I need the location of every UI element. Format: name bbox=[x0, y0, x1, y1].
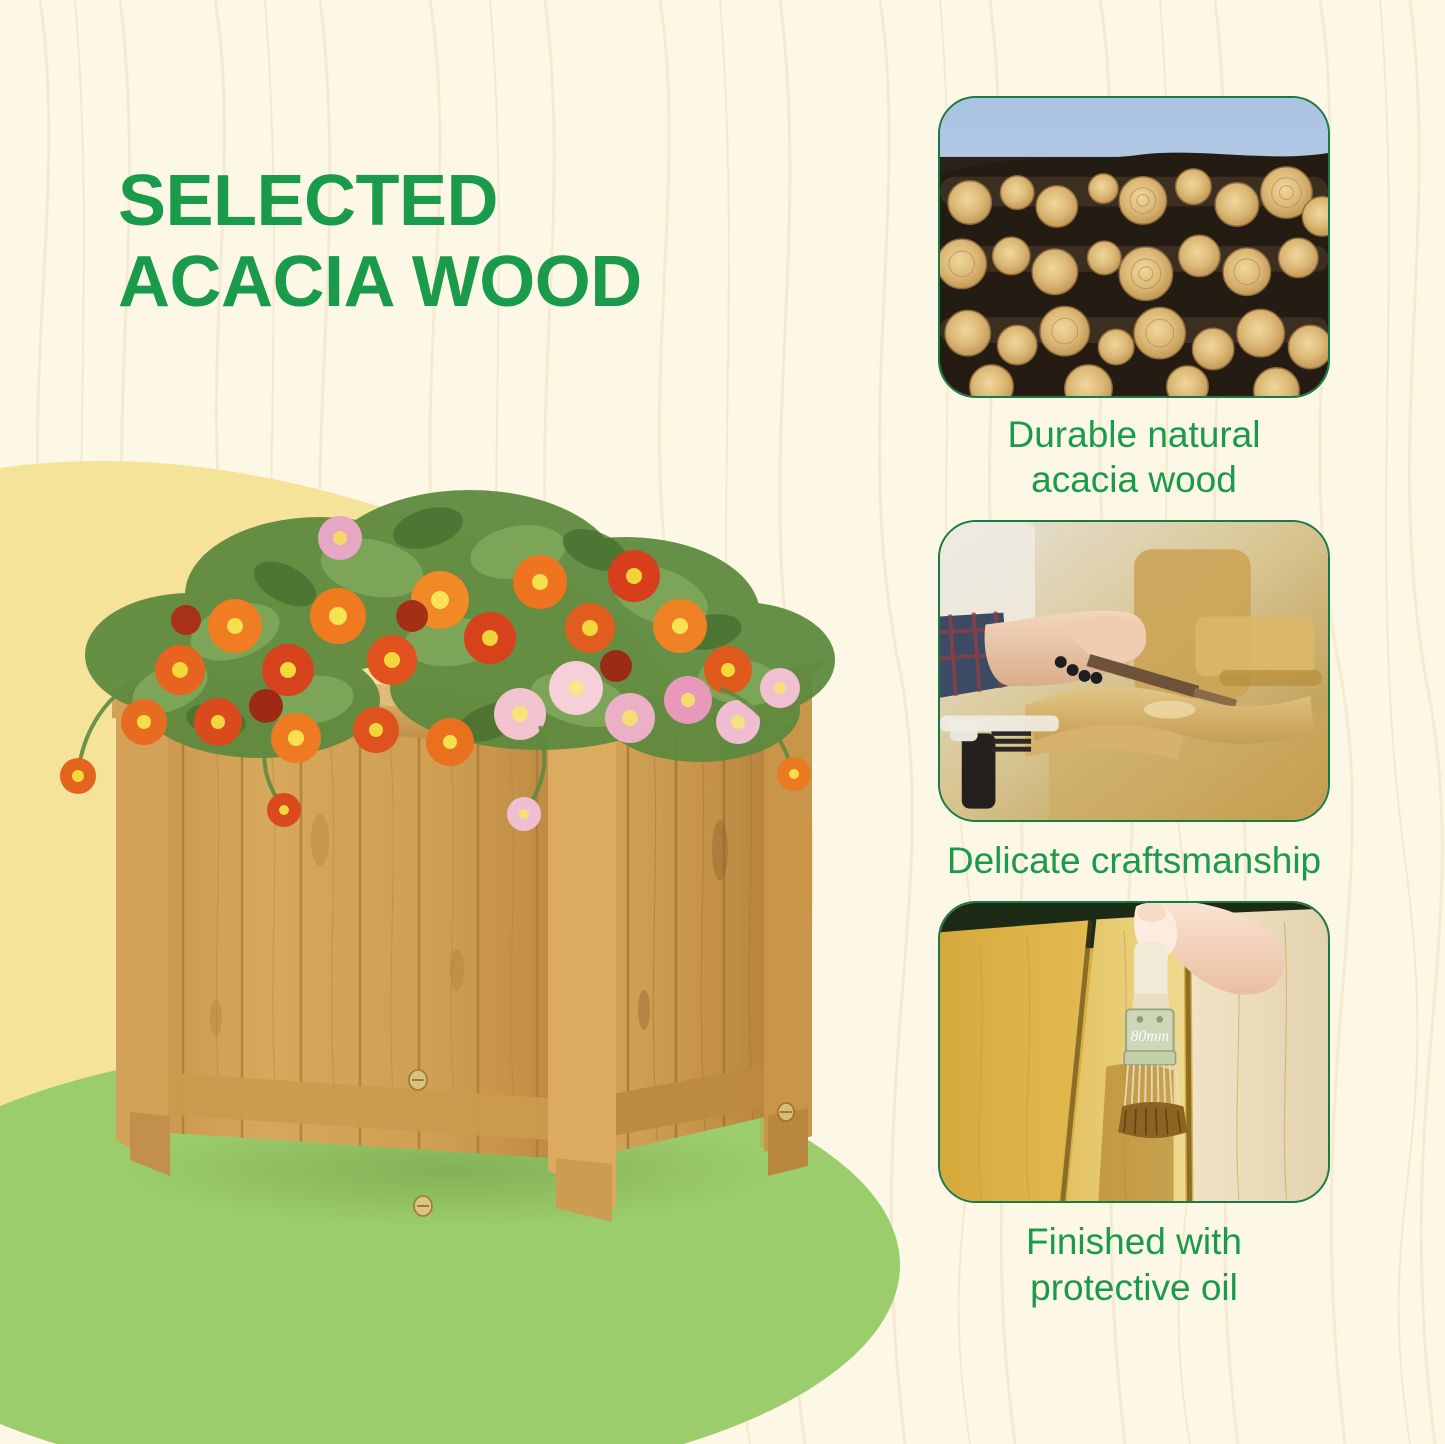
feature-item-durable-wood: Durable natural acacia wood bbox=[884, 96, 1384, 502]
feature-caption: Delicate craftsmanship bbox=[884, 838, 1384, 883]
page-title: SELECTED ACACIA WOOD bbox=[118, 161, 642, 322]
feature-item-protective-oil: 80mm Fin bbox=[884, 901, 1384, 1309]
feature-caption: Durable natural acacia wood bbox=[884, 412, 1384, 502]
acacia-planter-box-with-flowers bbox=[20, 370, 860, 1270]
stacked-logs-photo bbox=[938, 96, 1330, 398]
feature-item-craftsmanship: Delicate craftsmanship bbox=[884, 520, 1384, 883]
svg-text:80mm: 80mm bbox=[1130, 1028, 1169, 1045]
brush-applying-oil-photo: 80mm bbox=[938, 901, 1330, 1203]
feature-list: Durable natural acacia wood bbox=[884, 96, 1384, 1328]
feature-caption: Finished with protective oil bbox=[884, 1219, 1384, 1309]
craftsman-filing-wood-photo bbox=[938, 520, 1330, 822]
infographic-canvas: SELECTED ACACIA WOOD bbox=[0, 0, 1445, 1444]
